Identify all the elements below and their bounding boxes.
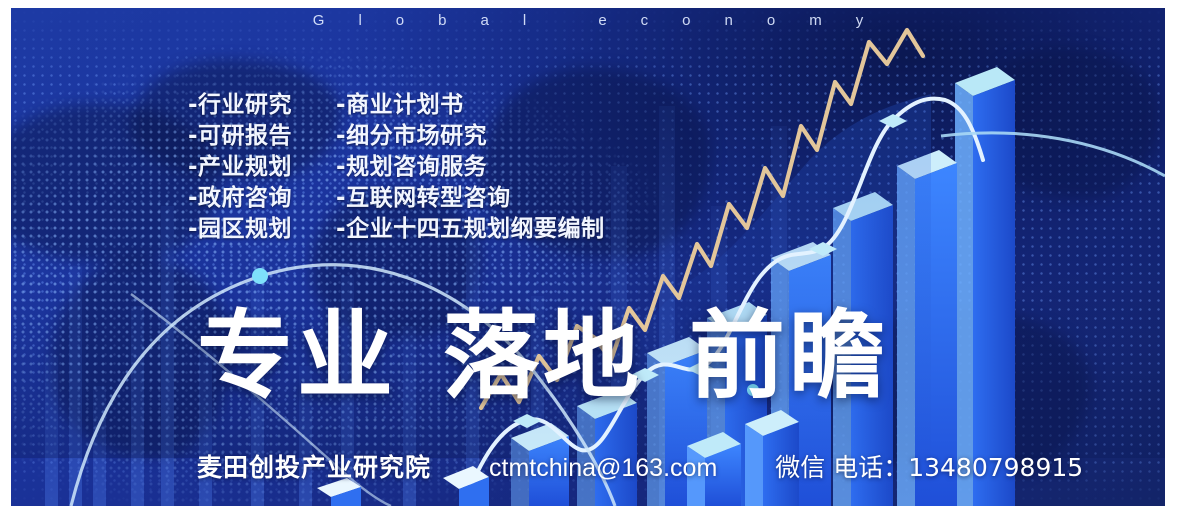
banner-root: Global economy -行业研究 -可研报告 -产业规划 -政府咨询 -… <box>0 0 1177 514</box>
service-column-right: -商业计划书 -细分市场研究 -规划咨询服务 -互联网转型咨询 -企业十四五规划… <box>336 90 605 245</box>
service-item: -行业研究 <box>188 90 292 121</box>
service-item: -可研报告 <box>188 121 292 152</box>
footer-contact-line: 麦田创投产业研究院 ctmtchina@163.com 微信 电话：134807… <box>197 448 1083 484</box>
service-item: -园区规划 <box>188 214 292 245</box>
email-address: ctmtchina@163.com <box>489 454 717 483</box>
service-item: -产业规划 <box>188 152 292 183</box>
headline-word-1: 专业 <box>197 304 397 408</box>
growth-chart-graphic <box>11 8 1165 506</box>
phone-contact: 微信 电话：13480798915 <box>775 448 1083 484</box>
service-column-left: -行业研究 -可研报告 -产业规划 -政府咨询 -园区规划 <box>188 90 292 245</box>
service-item: -商业计划书 <box>336 90 605 121</box>
service-item: -规划咨询服务 <box>336 152 605 183</box>
service-item: -细分市场研究 <box>336 121 605 152</box>
organization-name: 麦田创投产业研究院 <box>197 448 431 484</box>
global-economy-label: Global economy <box>11 12 1165 29</box>
service-item: -政府咨询 <box>188 183 292 214</box>
service-lists: -行业研究 -可研报告 -产业规划 -政府咨询 -园区规划 -商业计划书 -细分… <box>188 90 605 245</box>
headline-word-3: 前瞻 <box>689 304 889 408</box>
service-item: -互联网转型咨询 <box>336 183 605 214</box>
promo-banner: Global economy -行业研究 -可研报告 -产业规划 -政府咨询 -… <box>11 8 1165 506</box>
headline-slogan: 专业 落地 前瞻 <box>197 304 889 408</box>
headline-word-2: 落地 <box>443 304 643 408</box>
service-item: -企业十四五规划纲要编制 <box>336 214 605 245</box>
